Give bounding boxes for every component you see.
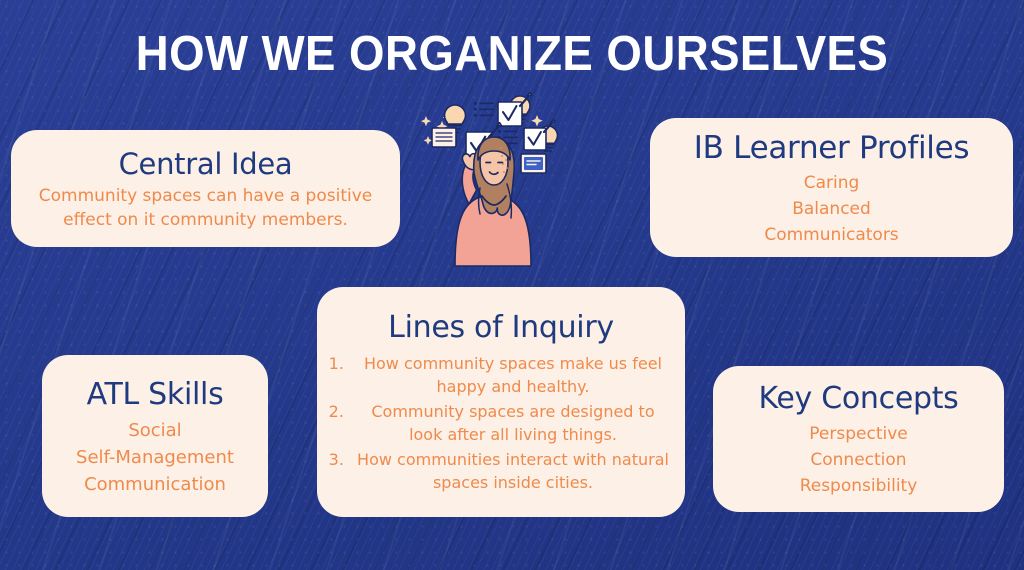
line-of-inquiry-item: Community spaces are designed to look af…: [349, 400, 673, 446]
key-concept-item: Connection: [810, 447, 906, 473]
page-title: HOW WE ORGANIZE OURSELVES: [36, 25, 988, 83]
line-of-inquiry-item: How communities interact with natural sp…: [349, 448, 673, 494]
card-ib-learner-profiles-heading: IB Learner Profiles: [694, 128, 969, 168]
lines-of-inquiry-list: How community spaces make us feel happy …: [325, 352, 677, 496]
atl-skill-item: Self-Management: [76, 444, 234, 471]
document-icon: [432, 128, 456, 147]
card-atl-skills: ATL Skills Social Self-Management Commun…: [42, 355, 268, 517]
key-concept-item: Responsibility: [800, 473, 918, 499]
key-concept-item: Perspective: [809, 421, 907, 447]
poster-canvas: HOW WE ORGANIZE OURSELVES: [0, 0, 1024, 570]
woman-with-ideas-illustration: [412, 88, 572, 268]
card-lines-of-inquiry-heading: Lines of Inquiry: [388, 308, 614, 348]
card-key-concepts-heading: Key Concepts: [758, 379, 958, 419]
atl-skill-item: Social: [128, 417, 181, 444]
ib-profile-item: Balanced: [792, 196, 871, 222]
ib-profile-item: Communicators: [764, 222, 898, 248]
list-icon: [474, 102, 493, 117]
line-of-inquiry-item: How community spaces make us feel happy …: [349, 352, 673, 398]
card-central-idea: Central Idea Community spaces can have a…: [11, 130, 400, 247]
card-central-idea-body: Community spaces can have a positive eff…: [23, 184, 388, 232]
card-key-concepts: Key Concepts Perspective Connection Resp…: [713, 366, 1004, 512]
atl-skill-item: Communication: [84, 471, 226, 498]
screen-card-icon: [521, 154, 546, 173]
ib-profile-item: Caring: [804, 170, 860, 196]
card-atl-skills-heading: ATL Skills: [87, 375, 224, 415]
card-lines-of-inquiry: Lines of Inquiry How community spaces ma…: [317, 287, 685, 517]
card-central-idea-heading: Central Idea: [119, 146, 293, 182]
card-ib-learner-profiles: IB Learner Profiles Caring Balanced Comm…: [650, 118, 1013, 257]
